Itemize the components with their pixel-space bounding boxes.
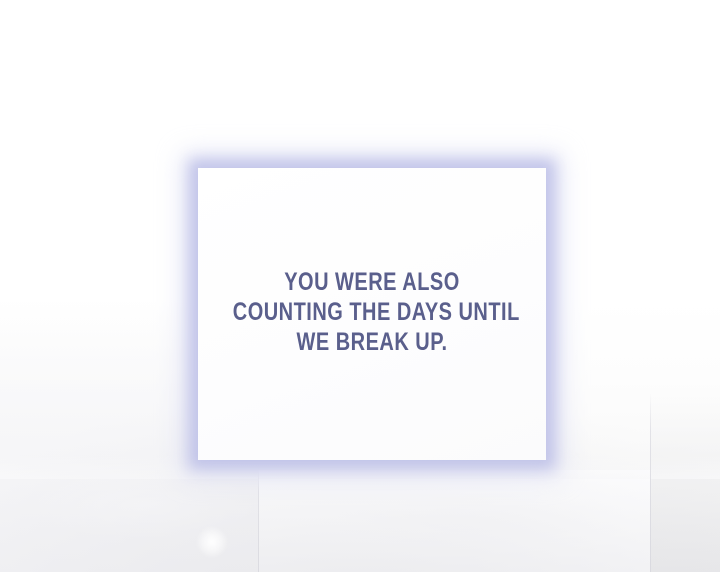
comic-panel-scene: YOU WERE ALSO COUNTING THE DAYS UNTIL WE… [0,0,720,572]
narration-card-surface: YOU WERE ALSO COUNTING THE DAYS UNTIL WE… [198,168,546,460]
narration-line-1: YOU WERE ALSO [233,267,511,297]
floor-glare-highlight [196,526,228,558]
narration-line-2: COUNTING THE DAYS UNTIL [233,297,511,327]
narration-line-3: WE BREAK UP. [233,327,511,357]
narration-card: YOU WERE ALSO COUNTING THE DAYS UNTIL WE… [198,168,546,460]
narration-text-block: YOU WERE ALSO COUNTING THE DAYS UNTIL WE… [198,267,546,357]
